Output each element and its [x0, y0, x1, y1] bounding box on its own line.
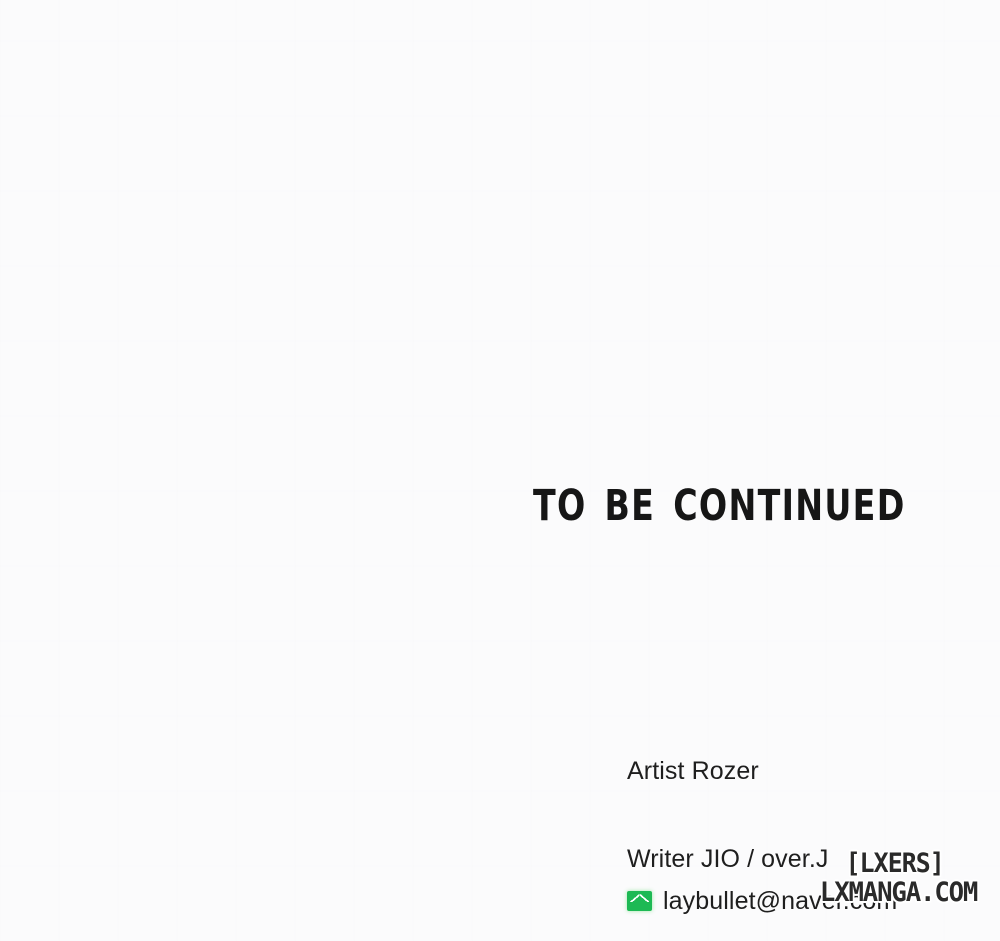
credit-artist: Artist Rozer — [627, 756, 897, 786]
envelope-icon — [627, 891, 652, 911]
comic-end-page: To be continued Artist Rozer Writer JIO … — [0, 0, 1000, 941]
site-watermark: [LXERS] LXMANGA.COM — [818, 850, 986, 908]
watermark-group-tag: [LXERS] — [818, 850, 972, 878]
watermark-site-url: LXMANGA.COM — [818, 878, 977, 908]
to-be-continued-title: To be continued — [533, 462, 906, 536]
